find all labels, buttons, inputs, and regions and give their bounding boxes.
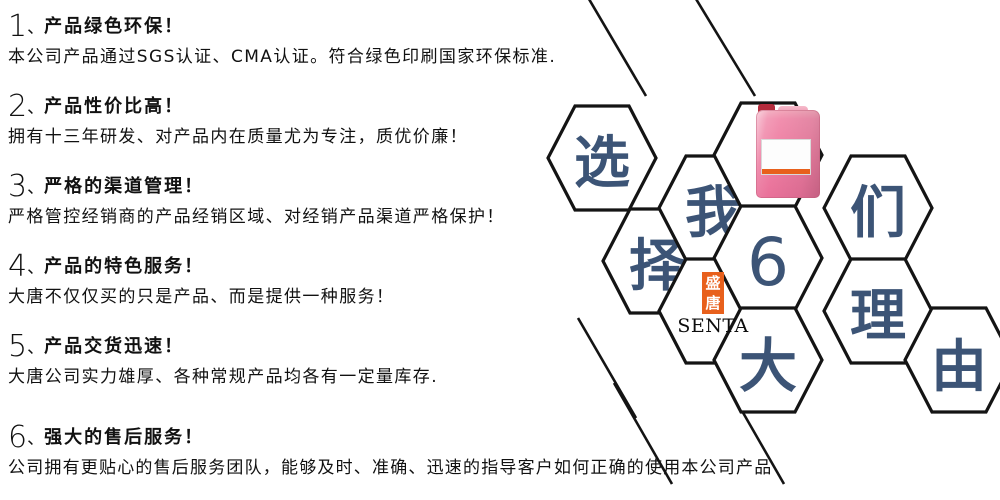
reason-heading: 5、产品交货迅速！ — [8, 330, 438, 364]
reason-item-3: 3、严格的渠道管理！ 严格管控经销商的产品经销区域、对经销产品渠道严格保护！ — [8, 170, 505, 230]
reason-heading: 4、产品的特色服务！ — [8, 250, 394, 284]
reason-number: 3 — [8, 169, 27, 204]
reason-body: 严格管控经销商的产品经销区域、对经销产品渠道严格保护！ — [8, 204, 505, 230]
reason-item-4: 4、产品的特色服务！ 大唐不仅仅买的只是产品、而是提供一种服务！ — [8, 250, 394, 310]
reason-number: 2 — [8, 89, 27, 124]
reason-heading: 3、严格的渠道管理！ — [8, 170, 505, 204]
reason-heading: 1、产品绿色环保！ — [8, 10, 556, 44]
reason-list: 1、产品绿色环保！ 本公司产品通过SGS认证、CMA认证。符合绿色印刷国家环保标… — [0, 0, 1000, 500]
reason-separator: 、 — [27, 178, 44, 198]
reason-separator: 、 — [27, 429, 44, 449]
reason-title: 产品性价比高！ — [44, 96, 184, 117]
product-label — [761, 139, 811, 175]
reason-body: 公司拥有更贴心的售后服务团队，能够及时、准确、迅速的指导客户如何正确的使用本公司… — [8, 455, 772, 481]
reason-number: 5 — [8, 329, 27, 364]
reason-separator: 、 — [27, 98, 44, 118]
reason-item-2: 2、产品性价比高！ 拥有十三年研发、对产品内在质量尤为专注，质优价廉！ — [8, 90, 468, 150]
promo-banner: 1、产品绿色环保！ 本公司产品通过SGS认证、CMA认证。符合绿色印刷国家环保标… — [0, 0, 1000, 500]
reason-title: 产品交货迅速！ — [44, 336, 184, 357]
senta-wordmark: SENTA — [670, 315, 756, 337]
reason-number: 1 — [8, 9, 27, 44]
reason-item-5: 5、产品交货迅速！ 大唐公司实力雄厚、各种常规产品均各有一定量库存. — [8, 330, 438, 390]
reason-number: 6 — [8, 420, 27, 455]
reason-separator: 、 — [27, 18, 44, 38]
reason-separator: 、 — [27, 258, 44, 278]
reason-heading: 6、强大的售后服务！ — [8, 421, 772, 455]
reason-heading: 2、产品性价比高！ — [8, 90, 468, 124]
reason-title: 强大的售后服务！ — [44, 427, 204, 448]
senta-logo[interactable]: 盛 唐 SENTA — [670, 272, 756, 337]
reason-title: 严格的渠道管理！ — [44, 176, 204, 197]
product-label-bottom-bar — [762, 169, 810, 174]
product-photo[interactable] — [752, 104, 824, 200]
reason-item-6: 6、强大的售后服务！ 公司拥有更贴心的售后服务团队，能够及时、准确、迅速的指导客… — [8, 421, 772, 481]
reason-body: 拥有十三年研发、对产品内在质量尤为专注，质优价廉！ — [8, 124, 468, 150]
reason-title: 产品的特色服务！ — [44, 256, 204, 277]
reason-body: 本公司产品通过SGS认证、CMA认证。符合绿色印刷国家环保标准. — [8, 44, 556, 70]
senta-seal-bottom: 唐 — [702, 293, 724, 313]
reason-title: 产品绿色环保！ — [44, 16, 184, 37]
reason-body: 大唐公司实力雄厚、各种常规产品均各有一定量库存. — [8, 364, 438, 390]
reason-item-1: 1、产品绿色环保！ 本公司产品通过SGS认证、CMA认证。符合绿色印刷国家环保标… — [8, 10, 556, 70]
reason-number: 4 — [8, 249, 27, 284]
reason-body: 大唐不仅仅买的只是产品、而是提供一种服务！ — [8, 284, 394, 310]
senta-seal-top: 盛 — [702, 273, 724, 293]
reason-separator: 、 — [27, 338, 44, 358]
senta-seal-icon: 盛 唐 — [702, 272, 724, 314]
